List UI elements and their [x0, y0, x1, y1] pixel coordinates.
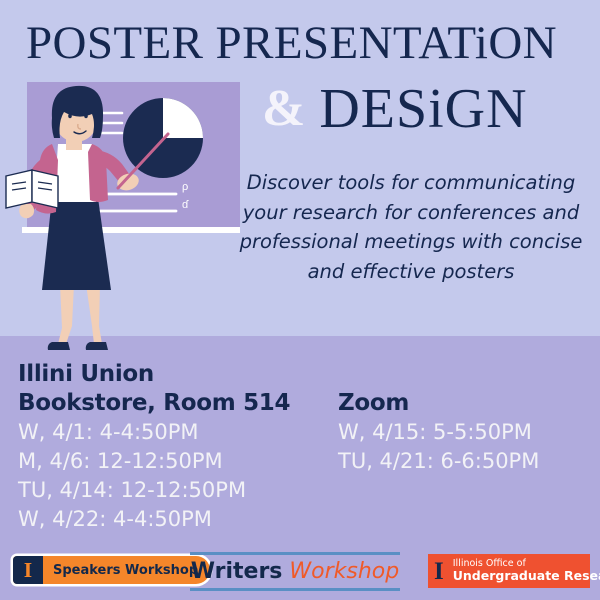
shoe-left: [48, 342, 70, 350]
list-item: M, 4/6: 12-12:50PM: [18, 447, 338, 476]
venue-line: Zoom: [338, 389, 588, 418]
block-i-glyph: I: [24, 560, 32, 581]
board-small-mark-a: ρ: [182, 181, 188, 193]
logo-writers-workshop[interactable]: WritersWorkshop: [190, 552, 400, 591]
venue-title-bookstore: Illini Union Bookstore, Room 514: [18, 360, 338, 419]
page-title-line2-group: &DESiGN: [262, 74, 600, 144]
venue-title-zoom: Zoom: [338, 389, 588, 418]
uor-text-group: Illinois Office of Undergraduate Researc…: [453, 559, 600, 584]
list-item: W, 4/22: 4-4:50PM: [18, 505, 338, 534]
illustration-woman-presenting: ρ ɗ: [0, 78, 240, 360]
logo-undergraduate-research[interactable]: I Illinois Office of Undergraduate Resea…: [428, 554, 590, 588]
workshop-word: Workshop: [289, 559, 399, 584]
writers-word: Writers: [191, 559, 283, 584]
session-list-zoom: W, 4/15: 5-5:50PM TU, 4/21: 6-6:50PM: [338, 418, 593, 476]
list-item: TU, 4/14: 12-12:50PM: [18, 476, 338, 505]
session-list-bookstore: W, 4/1: 4-4:50PM M, 4/6: 12-12:50PM TU, …: [18, 418, 338, 534]
list-item: TU, 4/21: 6-6:50PM: [338, 447, 593, 476]
venue-line: Illini Union Bookstore, Room 514: [18, 360, 338, 419]
leg-right: [86, 284, 102, 344]
poster-canvas: POSTER PRESENTATiON &DESiGN Discover too…: [0, 0, 600, 600]
ampersand-glyph: &: [262, 80, 305, 137]
leg-left: [58, 284, 74, 344]
illinois-block-i-icon: I: [13, 556, 43, 584]
speakers-workshop-label: Speakers Workshop: [43, 556, 210, 584]
board-small-mark-b: ɗ: [182, 199, 189, 211]
description-text: Discover tools for communicating your re…: [228, 168, 594, 287]
list-item: W, 4/15: 5-5:50PM: [338, 418, 593, 447]
list-item: W, 4/1: 4-4:50PM: [18, 418, 338, 447]
page-title-line1: POSTER PRESENTATiON: [26, 20, 586, 67]
footer-logo-bar: I Speakers Workshop WritersWorkshop I Il…: [0, 548, 600, 600]
illinois-block-i-icon: I: [434, 559, 444, 584]
uor-line2: Undergraduate Research: [453, 569, 600, 583]
shoe-right: [86, 342, 108, 350]
page-title-line2: DESiGN: [319, 78, 527, 140]
logo-speakers-workshop[interactable]: I Speakers Workshop: [13, 556, 210, 584]
open-book: [6, 170, 58, 208]
